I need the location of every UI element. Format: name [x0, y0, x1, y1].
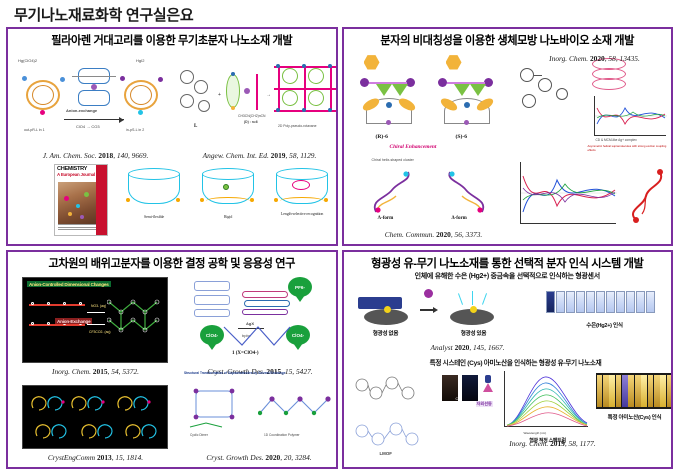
ligand-upper-svg: [352, 373, 428, 407]
quadrant-fluorescent-sensing: 형광성 유-무기 나노소재를 통한 선택적 분자 인식 시스템 개발 인체에 유…: [342, 250, 674, 469]
banner-anion-controlled: Anion-Controlled Dimensional Changes: [27, 281, 111, 287]
figure-anion-scheme: PF6- AgX bpbz ClO4- ClO4-: [182, 275, 338, 365]
cys-section-title: 특정 시스테인 (Cys) 아미노산을 인식하는 형광성 유-무기 나노소재: [356, 357, 674, 367]
uv-curve-svg: [521, 162, 617, 224]
helix-title: Chiral helix-shaped cluster: [372, 158, 414, 162]
citation-chem-eur-j: Chem. Eur. J. 2019, 25, 949.: [122, 244, 337, 246]
cup-length-selective: [276, 168, 328, 210]
cup-label-3: Length-selective recognition: [272, 212, 332, 217]
quadrant-pillararene: 필라아렌 거대고리를 이용한 무기초분자 나노소재 개발 Hg(ClO4)2 H…: [6, 27, 338, 246]
red-helix: [622, 164, 670, 224]
reagent-label-right: HgI2: [136, 58, 144, 63]
cys-vial: [597, 375, 603, 407]
ligand-lower-svg: [352, 417, 428, 451]
arrow-sublabel: ClO4 → CO3: [76, 124, 100, 129]
citation-chem-lett: Chem. Lett. 2020, 47, 1178.: [518, 244, 674, 246]
figure-cuvettes-uv: Cys 자외선등: [440, 371, 496, 445]
cup-semi-flexible: [128, 168, 180, 210]
macrocycle-left: [20, 74, 68, 118]
cup-rigid: [202, 168, 254, 210]
quadrant-grid: 필라아렌 거대고리를 이용한 무기초분자 나노소재 개발 Hg(ClO4)2 H…: [6, 27, 673, 469]
chiral-enhancement-label: Chiral Enhancement: [390, 144, 437, 150]
axle: [244, 72, 266, 112]
stereo-label-right: in-pS-L in 2: [126, 128, 144, 132]
ligand-sketch: [178, 66, 218, 122]
cup-label-2: Rigid: [202, 214, 254, 219]
quadrant-title: 필라아렌 거대고리를 이용한 무기초분자 나노소재 개발: [12, 35, 332, 47]
cys-vial: [660, 375, 666, 407]
quadrant-coordination-polymer: 고차원의 배위고분자를 이용한 결정 공학 및 응용성 연구 Anion-Con…: [6, 250, 338, 469]
figure-lmof-ligand: LMOF: [350, 371, 436, 463]
ladder-structure: [190, 277, 234, 319]
emission-curves-svg: [505, 371, 589, 427]
figure-hg-sensor: 형광성 없음 형광성 있음: [352, 287, 542, 351]
cys-vial: [609, 375, 615, 407]
helix-lambda-svg: [368, 168, 416, 216]
citation-jacs: J. Am. Chem. Soc. 2018, 140, 9669.: [18, 151, 173, 160]
anion-label-pf6: PF6-: [295, 285, 305, 290]
cys-vial: [648, 375, 654, 407]
zigzag-link: [222, 325, 292, 349]
quadrant-subtitle: 인체에 유해한 수은 (Hg2+) 중금속을 선택적으로 인식하는 형광센서: [348, 271, 668, 281]
emission-xaxis-label: Wavelength (nm): [524, 431, 547, 435]
figure-cys-vials: 특정 아미노산(Cys) 인식: [596, 371, 674, 441]
ligand-lower: [352, 417, 428, 451]
sensor-on: [444, 291, 504, 325]
cys-vial: [641, 375, 647, 407]
pillararene-ellipse: [226, 74, 240, 108]
helix-lambda: [368, 168, 416, 216]
cover-subtitle: A European Journal: [57, 172, 95, 177]
red-helix-svg: [622, 164, 670, 224]
struct-label-left: Cyclic Dimer: [190, 433, 208, 437]
label-cys-recognition: 특정 아미노산(Cys) 인식: [596, 413, 674, 421]
figure-pillararene-scheme: Hg(ClO4)2 HgI2: [14, 52, 172, 148]
vial: [606, 291, 615, 313]
cys-vial: [622, 375, 628, 407]
coordination-polymer-1d: [258, 383, 332, 433]
vial: [566, 291, 575, 313]
network-2d: [274, 60, 336, 122]
cys-vial: [654, 375, 660, 407]
poster-page: 무기나노재료화학 연구실은요 필라아렌 거대고리를 이용한 무기초분자 나노소재…: [0, 0, 679, 474]
stereo-label-left: out-pR-L in 1: [24, 128, 45, 132]
helix-delta: [442, 168, 490, 216]
complex-R: [356, 76, 422, 130]
figure-crystengcomm-structures: [22, 385, 168, 449]
subcaption-solvent-exchange: Structural Transformation of Supramolecu…: [184, 371, 286, 375]
axle-label: CH3CN(CH2)nCN: [238, 114, 266, 118]
network-green: [107, 294, 163, 344]
cuvette-label-cys: Cys: [456, 397, 462, 401]
arrow-yields: →: [266, 92, 271, 98]
cys-vial: [667, 375, 673, 407]
network-caption: 2D Poly-pseudo-rotaxane: [278, 124, 316, 128]
figure-solvent-exchange: Structural Transformation of Supramolecu…: [180, 371, 338, 453]
quadrant-figures: Hg(ClO4)2 HgI2: [12, 48, 332, 238]
axle-sublabel: (D) : n=6: [244, 120, 258, 124]
central-complex: [72, 66, 116, 112]
enantiomer-label-R: (R)-6: [376, 134, 388, 140]
hex-icon: [364, 54, 380, 70]
citation-inorg-chem-2020: Inorg. Chem. 2020, 58, 13435.: [516, 54, 674, 63]
vial: [586, 291, 595, 313]
citation-angew: Angew. Chem. Int. Ed. 2019, 58, 1129.: [182, 151, 337, 160]
reagent-label-left: Hg(ClO4)2: [18, 58, 37, 63]
cd-note: Asymmetric helical supramolecules with s…: [588, 144, 674, 152]
figure-helix-forms: Chiral helix-shaped cluster: [352, 158, 512, 232]
reagent-tfa: CF3CO2- (aq): [89, 330, 110, 334]
reagent-nitrate: NO3- (aq): [91, 304, 106, 308]
enantiomer-label-S: (S)-6: [456, 134, 468, 140]
vial: [646, 291, 655, 313]
cluster-row-2: [27, 418, 165, 444]
quadrant-title: 형광성 유-무기 나노소재를 통한 선택적 분자 인식 시스템 개발: [348, 258, 668, 270]
figure-hg-vials: 수은(Hg2+) 인식: [546, 289, 674, 351]
vial: [546, 291, 555, 313]
cd-caption: CD & MCM-like Ag+ complex: [596, 138, 637, 142]
arrow-hg-binding: [420, 305, 438, 315]
journal-cover-image: CHEMISTRY A European Journal: [54, 164, 108, 236]
citation-analyst: Analyst 2020, 145, 1667.: [388, 343, 548, 352]
cd-plot: [594, 96, 666, 136]
citation-cgd-2020: Cryst. Growth Des. 2020, 20, 3284.: [180, 453, 338, 462]
struct-label-right: 1D Coordination Polymer: [264, 433, 300, 437]
bubble-clo4-left: ClO4-: [200, 325, 224, 345]
quadrant-figures: (R)-6 (S)-6 Chi: [348, 48, 668, 238]
citation-chem-commun: Chem. Commun. 2020, 56, 3373.: [354, 230, 514, 239]
arrow-label: Anion-exchange: [66, 108, 97, 113]
helix-label-lambda: Λ-form: [378, 216, 394, 221]
citation-inorg-chem-2015: Inorg. Chem. 2015, 54, 5372.: [18, 367, 173, 376]
cys-vial: [635, 375, 641, 407]
sensor-off: [358, 291, 414, 325]
label-hg-recognition: 수은(Hg2+) 인식: [546, 321, 664, 329]
figure-cd-spectra: CD & MCM-like Ag+ complex Asymmetric hel…: [516, 50, 674, 158]
ligand-upper: [352, 373, 428, 407]
vial: [596, 291, 605, 313]
complex-S: [434, 76, 500, 130]
cys-vial: [603, 375, 609, 407]
uv-lamp-icon: [482, 375, 494, 397]
quadrant-figures: 형광성 없음 형광성 있음: [348, 283, 668, 459]
plus-sign: +: [218, 92, 221, 98]
vial: [626, 291, 635, 313]
cluster-row: [27, 390, 165, 416]
quadrant-title: 고차원의 배위고분자를 이용한 결정 공학 및 응용성 연구: [12, 258, 332, 270]
cluster-row-svg: [27, 390, 165, 416]
lmof-label: LMOF: [380, 451, 392, 456]
hex-icon: [446, 54, 462, 70]
quadrant-chirality: 분자의 비대칭성을 이용한 생체모방 나노바이오 소재 개발: [342, 27, 674, 246]
complex-label: 1 (X=ClO4-): [232, 351, 259, 356]
polymer-1d-svg: [258, 383, 332, 433]
network-green-svg: [107, 294, 163, 344]
figure-enantiomers: (R)-6 (S)-6 Chi: [350, 52, 512, 156]
aromatic-stack: [242, 289, 292, 315]
macrocycle-right: [118, 74, 166, 118]
helix-delta-svg: [442, 168, 490, 216]
anion-label-clo4-right: ClO4-: [292, 333, 304, 338]
cyclic-dimer-svg: [186, 383, 246, 433]
cup-label-1: Semi-flexible: [128, 214, 180, 219]
figure-rotaxane: L + CH3CN(CH2)nCN (D) : n=6: [178, 52, 338, 148]
molecule-sketch: [516, 64, 586, 120]
uv-lamp-label: 자외선등: [476, 401, 493, 407]
zigzag-svg: [222, 325, 292, 349]
anion-label-clo4-left: ClO4-: [206, 333, 218, 338]
figure-calix-cups: Semi-flexible Rigid: [122, 166, 337, 240]
figure-uv-spectra: [518, 158, 674, 240]
hg-vial-row: [546, 291, 656, 313]
quadrant-figures: Anion-Controlled Dimensional Changes: [12, 271, 332, 461]
citation-inorg-chem-2019: Inorg. Chem. 2019, 58, 1177.: [498, 439, 608, 448]
vial: [616, 291, 625, 313]
cluster-row2-svg: [27, 418, 165, 444]
ligand-label: L: [194, 124, 197, 129]
cys-vial-strip: [596, 373, 674, 409]
quadrant-title: 분자의 비대칭성을 이용한 생체모방 나노바이오 소재 개발: [348, 35, 668, 47]
emission-plot: [504, 371, 588, 427]
label-no-fluorescence: 형광성 없음: [358, 329, 414, 337]
helix-label-delta: Δ-form: [452, 216, 467, 221]
cover-chemistry-european-journal: CHEMISTRY A European Journal: [54, 164, 108, 236]
cyclic-dimer: [186, 383, 246, 433]
cuvette-dark-2: [462, 375, 478, 401]
label-yes-fluorescence: 형광성 있음: [444, 329, 504, 337]
cys-vial: [616, 375, 622, 407]
vial: [636, 291, 645, 313]
cys-vial: [628, 375, 634, 407]
cd-curve-svg: [595, 96, 667, 136]
figure-anion-controlled: Anion-Controlled Dimensional Changes: [22, 277, 168, 363]
uv-plot: [520, 162, 616, 224]
page-title: 무기나노재료화학 연구실은요: [14, 4, 193, 25]
vial: [556, 291, 565, 313]
citation-crystengcomm: CrystEngComm 2013, 15, 1814.: [18, 453, 173, 462]
vial: [576, 291, 585, 313]
hg-ion: [424, 289, 433, 298]
